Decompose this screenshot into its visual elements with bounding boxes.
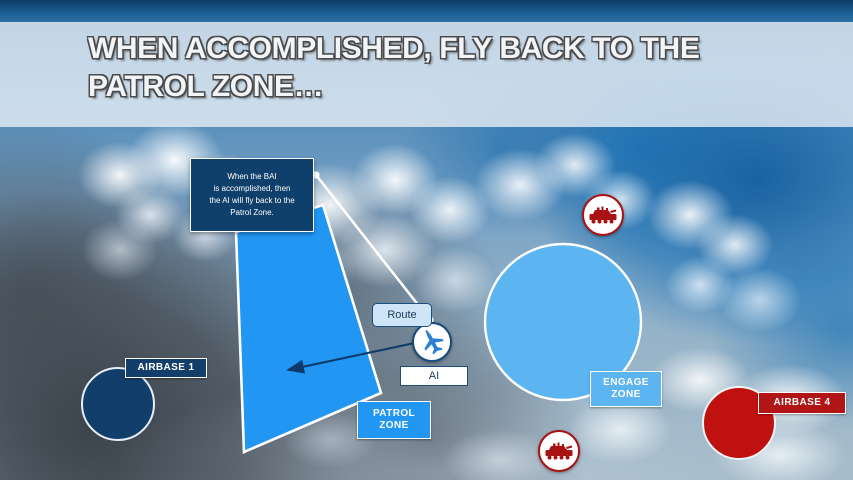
target-marker-south[interactable] <box>538 430 580 472</box>
fighter-jet-icon <box>417 327 447 357</box>
ground-target-icon <box>544 440 574 462</box>
callout-box: When the BAI is accomplished, then the A… <box>190 158 314 232</box>
label-airbase-4[interactable]: AIRBASE 4 <box>758 392 846 414</box>
label-airbase-1[interactable]: AIRBASE 1 <box>125 358 207 378</box>
label-patrol-zone[interactable]: PATROL ZONE <box>357 401 431 439</box>
slide-canvas: WHEN ACCOMPLISHED, FLY BACK TO THE PATRO… <box>0 0 853 480</box>
airbase-1-marker[interactable] <box>82 368 154 440</box>
ground-target-icon <box>588 204 618 226</box>
target-marker-north[interactable] <box>582 194 624 236</box>
label-route[interactable]: Route <box>372 303 432 327</box>
label-engage-zone[interactable]: ENGAGE ZONE <box>590 371 662 407</box>
label-ai[interactable]: AI <box>400 366 468 386</box>
ai-aircraft-marker[interactable] <box>412 322 452 362</box>
